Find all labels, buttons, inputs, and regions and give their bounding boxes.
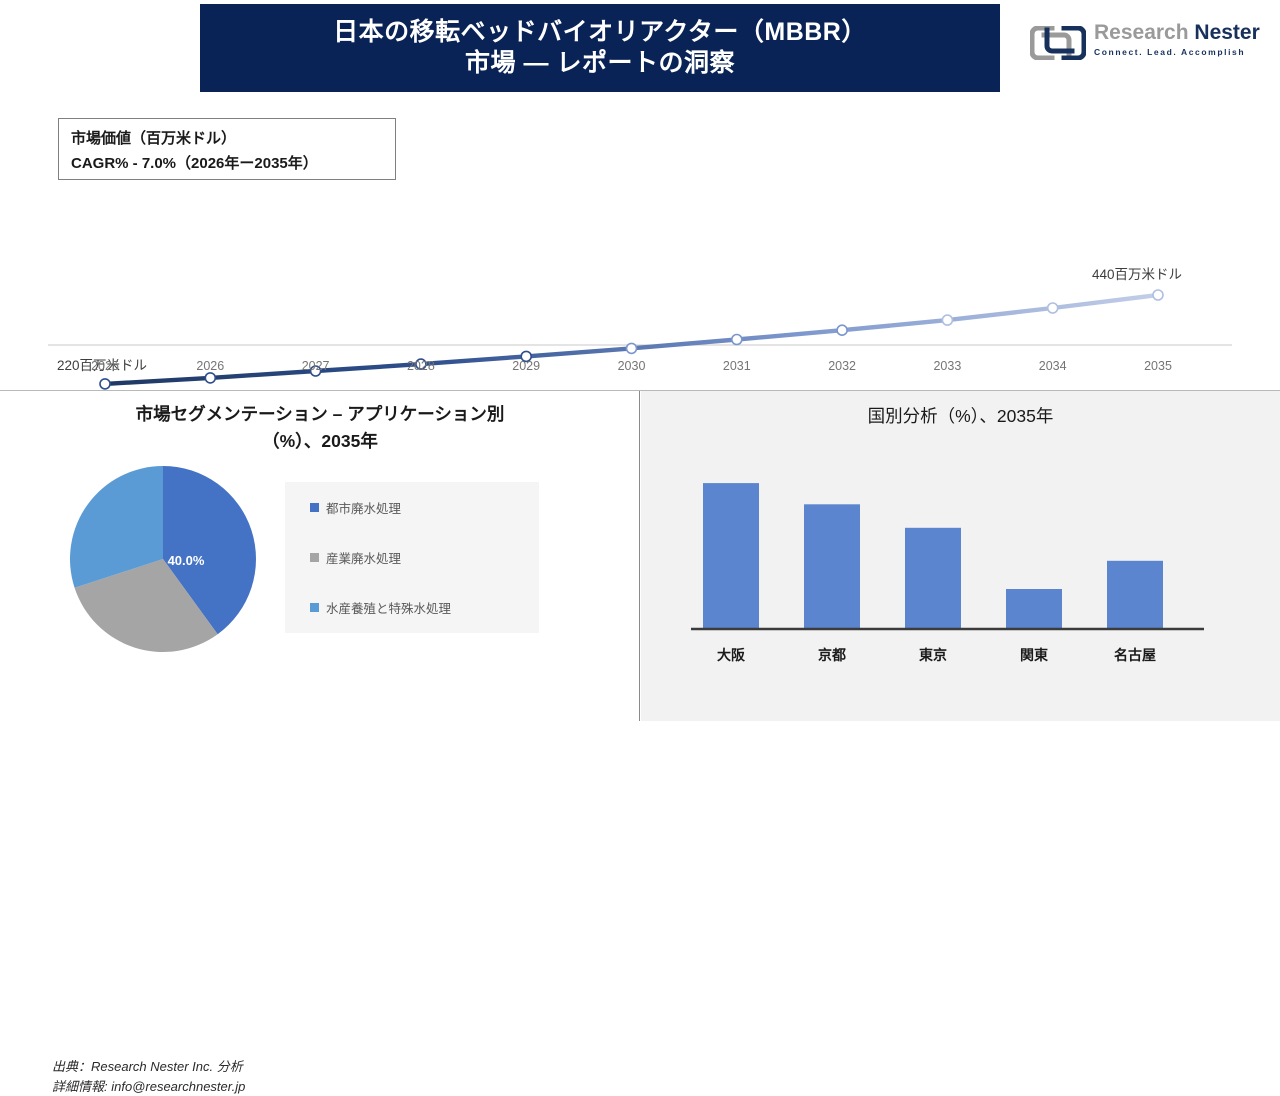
bar-label-東京: 東京 bbox=[919, 647, 947, 663]
x-tick-2035: 2035 bbox=[1144, 359, 1172, 373]
line-data-point bbox=[205, 373, 215, 383]
page-title-line-2: 市場 ― レポートの洞察 bbox=[465, 48, 735, 79]
line-data-point bbox=[627, 343, 637, 353]
pie-legend-label: 水産養殖と特殊水処理 bbox=[326, 598, 451, 617]
bar-label-関東: 関東 bbox=[1020, 647, 1048, 663]
line-data-point bbox=[837, 325, 847, 335]
pie-chart-title: 市場セグメンテーション – アプリケーション別 （%）、2035年 bbox=[20, 401, 620, 455]
x-axis-tick-labels: 2025202620272028202920302031203220332034… bbox=[91, 359, 1172, 373]
x-tick-2027: 2027 bbox=[302, 359, 330, 373]
country-analysis-bar-panel: 国別分析（%）、2035年 大阪京都東京関東名古屋 bbox=[641, 391, 1280, 721]
bar-label-大阪: 大阪 bbox=[717, 647, 746, 663]
x-tick-2032: 2032 bbox=[828, 359, 856, 373]
bar-chart-title: 国別分析（%）、2035年 bbox=[641, 403, 1280, 428]
line-data-point bbox=[1048, 303, 1058, 313]
line-data-point bbox=[1153, 290, 1163, 300]
x-tick-2026: 2026 bbox=[196, 359, 224, 373]
pie-chart: 40.0% bbox=[68, 464, 258, 654]
market-value-line-chart: 市場価値（百万米ドル） CAGR% - 7.0%（2026年ー2035年） 22… bbox=[0, 96, 1280, 390]
pie-data-label: 40.0% bbox=[168, 553, 205, 568]
x-tick-2025: 2025 bbox=[91, 359, 119, 373]
bar-label-名古屋: 名古屋 bbox=[1114, 647, 1156, 663]
pie-legend-label: 都市廃水処理 bbox=[326, 498, 401, 517]
report-title-banner: 日本の移転ベッドバイオリアクター（MBBR） 市場 ― レポートの洞察 bbox=[200, 4, 1000, 92]
bar-大阪 bbox=[703, 483, 759, 629]
logo-tagline: Connect. Lead. Accomplish bbox=[1094, 47, 1264, 57]
x-tick-2030: 2030 bbox=[618, 359, 646, 373]
logo-name-research: Research bbox=[1094, 21, 1194, 44]
end-value-label: 440百万米ドル bbox=[1092, 267, 1182, 282]
pie-title-line-2: （%）、2035年 bbox=[20, 428, 620, 455]
line-data-point bbox=[100, 379, 110, 389]
x-tick-2033: 2033 bbox=[933, 359, 961, 373]
x-tick-2029: 2029 bbox=[512, 359, 540, 373]
pie-legend-item[interactable]: 産業廃水処理 bbox=[285, 532, 539, 582]
legend-swatch-icon bbox=[310, 553, 319, 562]
line-data-point bbox=[732, 335, 742, 345]
pie-title-line-1: 市場セグメンテーション – アプリケーション別 bbox=[20, 401, 620, 428]
logo-wordmark: Research Nester Connect. Lead. Accomplis… bbox=[1094, 22, 1264, 57]
bar-category-labels: 大阪京都東京関東名古屋 bbox=[717, 647, 1156, 663]
bar-関東 bbox=[1006, 589, 1062, 629]
pie-legend-label: 産業廃水処理 bbox=[326, 548, 401, 567]
pie-legend-item[interactable]: 水産養殖と特殊水処理 bbox=[285, 583, 539, 633]
bottom-charts-row: 市場セグメンテーション – アプリケーション別 （%）、2035年 40.0% … bbox=[0, 390, 1280, 720]
logo-link-icon bbox=[1030, 26, 1086, 60]
bar-series bbox=[703, 483, 1163, 629]
bar-名古屋 bbox=[1107, 561, 1163, 629]
pie-legend-item[interactable]: 都市廃水処理 bbox=[285, 482, 539, 532]
page-header: 日本の移転ベッドバイオリアクター（MBBR） 市場 ― レポートの洞察 Rese… bbox=[0, 0, 1280, 96]
bar-label-京都: 京都 bbox=[818, 647, 846, 663]
x-tick-2034: 2034 bbox=[1039, 359, 1067, 373]
line-data-point bbox=[942, 315, 952, 325]
legend-swatch-icon bbox=[310, 603, 319, 612]
pie-legend: 都市廃水処理産業廃水処理水産養殖と特殊水処理 bbox=[285, 482, 539, 633]
footnote-contact: 詳細情報: info@researchnester.jp bbox=[52, 1077, 245, 1096]
x-tick-2031: 2031 bbox=[723, 359, 751, 373]
legend-swatch-icon bbox=[310, 503, 319, 512]
page-title-line-1: 日本の移転ベッドバイオリアクター（MBBR） bbox=[333, 17, 867, 48]
x-tick-2028: 2028 bbox=[407, 359, 435, 373]
bar-京都 bbox=[804, 504, 860, 629]
research-nester-logo[interactable]: Research Nester Connect. Lead. Accomplis… bbox=[1030, 20, 1260, 76]
pie-chart-svg: 40.0% bbox=[68, 464, 258, 654]
footnote-source: 出典：Research Nester Inc. 分析 bbox=[52, 1057, 245, 1077]
bar-東京 bbox=[905, 528, 961, 629]
bar-chart-svg: 大阪京都東京関東名古屋 bbox=[641, 437, 1280, 721]
logo-name-nester: Nester bbox=[1194, 21, 1259, 44]
line-chart-svg: 220百万米ドル 440百万米ドル 2025202620272028202920… bbox=[0, 96, 1280, 390]
source-footnote: 出典：Research Nester Inc. 分析 詳細情報: info@re… bbox=[52, 1057, 245, 1096]
